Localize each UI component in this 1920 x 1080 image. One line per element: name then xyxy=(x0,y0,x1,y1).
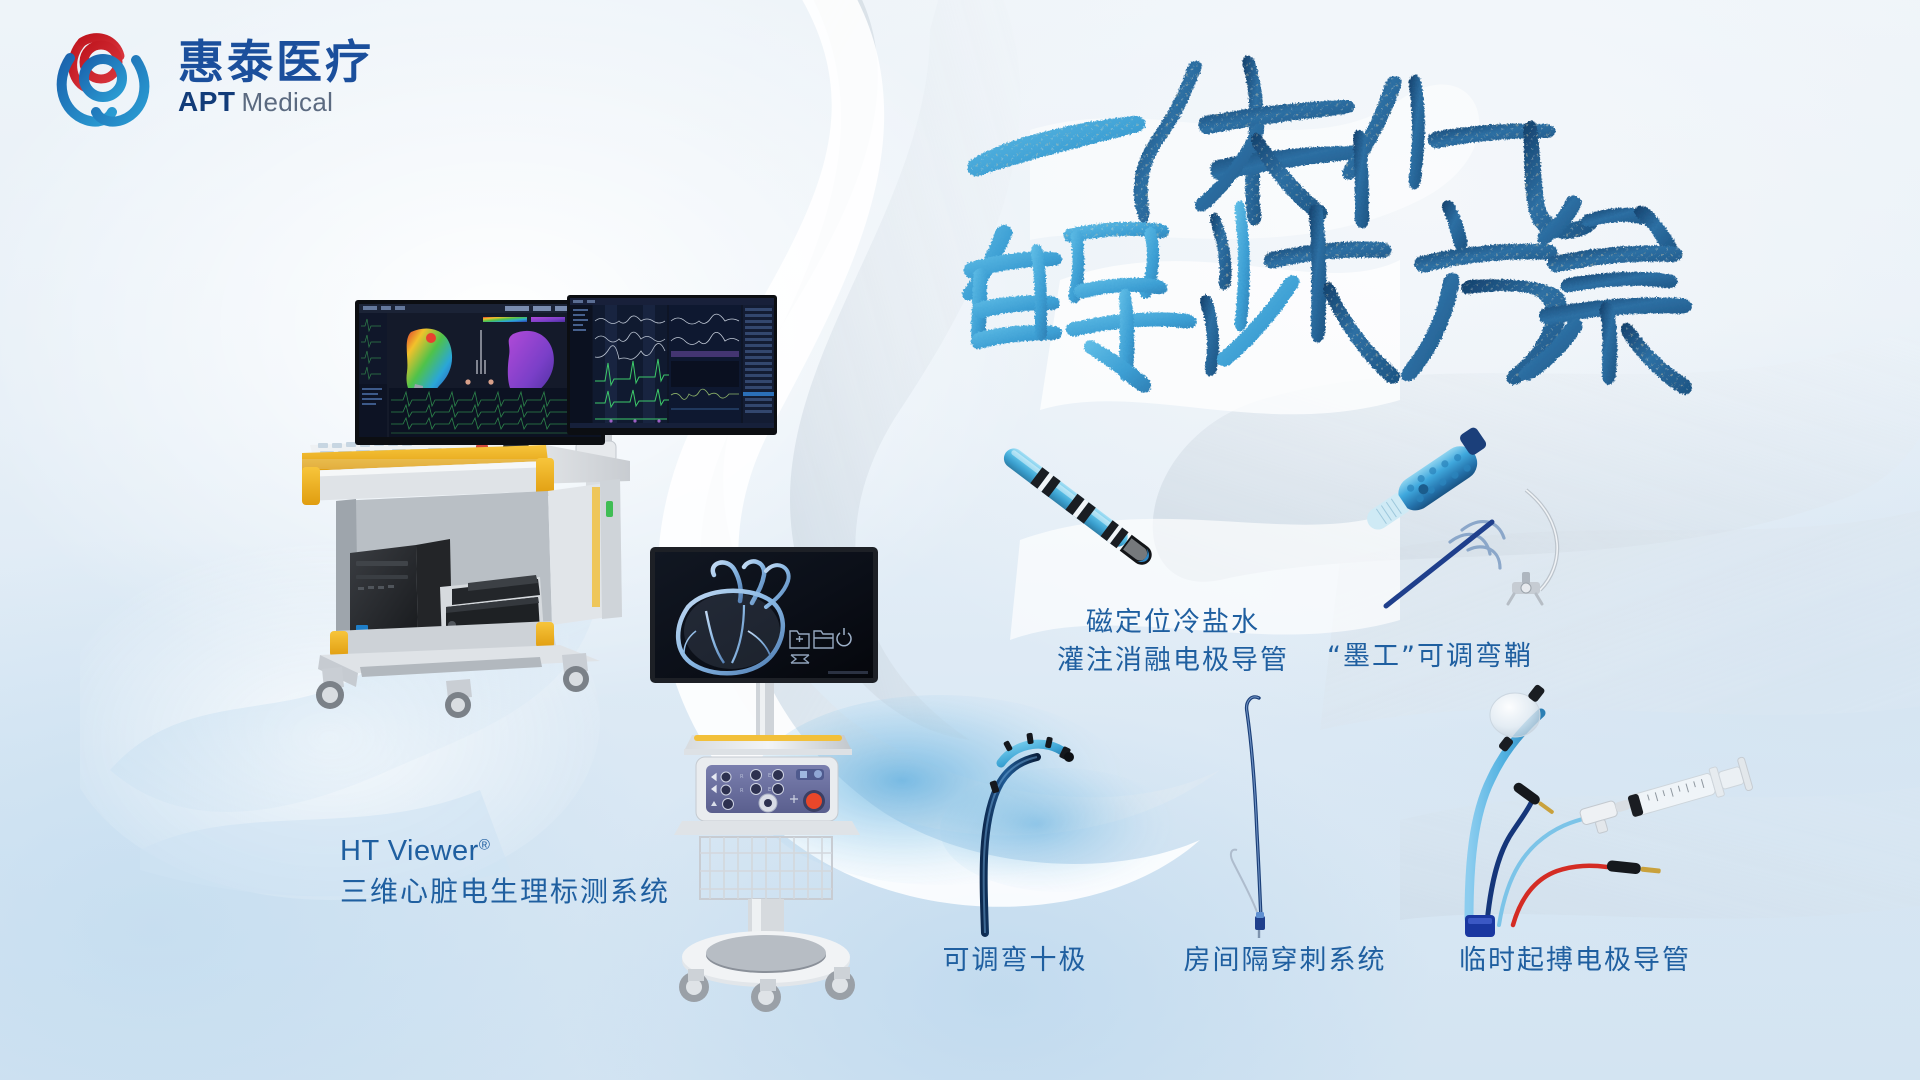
label-transseptal-system: 房间隔穿刺系统 xyxy=(1170,942,1400,980)
svg-text:E: E xyxy=(768,787,771,793)
product-temporary-pacing-catheter xyxy=(1465,675,1805,930)
monitor-ecg-recording xyxy=(567,295,777,435)
label-steerable-sheath: “墨工”可调弯鞘 xyxy=(1305,638,1555,676)
calli-char-yi xyxy=(967,116,1145,177)
product-ablation-catheter xyxy=(980,432,1190,592)
svg-text:R: R xyxy=(740,774,744,780)
heart-display-trolley: RR EE xyxy=(648,545,888,1015)
svg-text:E: E xyxy=(768,773,771,779)
brand-name-cn: 惠泰医疗 xyxy=(178,38,374,86)
brand-logo[interactable]: 惠泰医疗 APT Medical xyxy=(52,24,374,130)
product-steerable-sheath xyxy=(1380,438,1680,633)
ht-viewer-label: HT Viewer® 三维心脏电生理标测系统 xyxy=(340,832,670,912)
ht-viewer-product-en: HT Viewer xyxy=(340,835,479,867)
calli-char-ti xyxy=(1134,56,1360,226)
svg-text:R: R xyxy=(740,788,744,794)
label-temporary-pacing-catheter: 临时起搏电极导管 xyxy=(1455,942,1695,980)
label-decapolar-catheter: 可调弯十极 xyxy=(920,942,1110,980)
brand-apt: APT xyxy=(178,88,236,116)
apt-medical-loop-logo-icon xyxy=(52,24,160,130)
headline-calligraphy xyxy=(965,42,1625,352)
poster-canvas: 惠泰医疗 APT Medical xyxy=(0,0,1920,1080)
ht-viewer-name-cn: 三维心脏电生理标测系统 xyxy=(340,873,670,912)
brand-name-en: APT Medical xyxy=(178,88,374,116)
product-decapolar-catheter xyxy=(945,705,1105,935)
trademark-symbol: ® xyxy=(479,836,491,853)
brand-medical: Medical xyxy=(242,89,334,115)
product-transseptal-system xyxy=(1215,690,1305,940)
ht-viewer-name-en: HT Viewer® xyxy=(340,832,670,871)
label-ablation-catheter: 磁定位冷盐水 灌注消融电极导管 xyxy=(1028,604,1318,681)
